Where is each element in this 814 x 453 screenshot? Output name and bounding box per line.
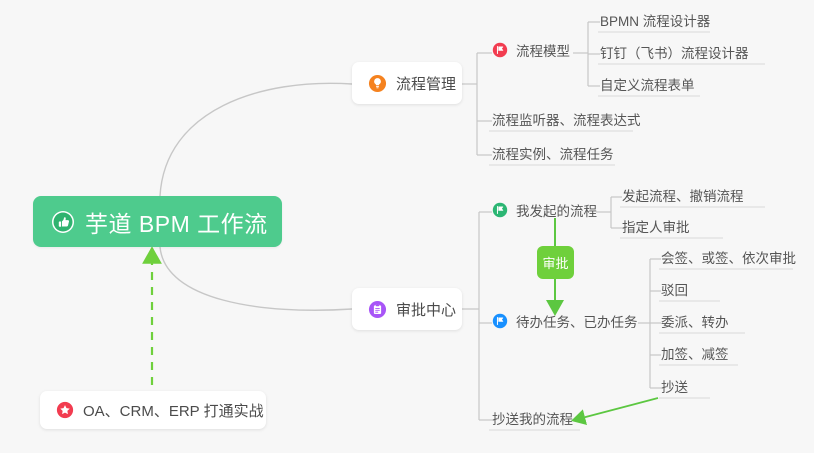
node-carbon-copy[interactable]: 抄送 [661,376,688,401]
node-label: 抄送我的流程 [492,408,573,428]
flag-icon [492,313,508,329]
node-dingtalk-feishu-designer[interactable]: 钉钉（飞书）流程设计器 [600,42,749,67]
node-assigned-approver[interactable]: 指定人审批 [622,216,690,241]
node-label: 流程监听器、流程表达式 [492,109,641,129]
flag-icon [492,42,508,58]
node-my-initiated-processes[interactable]: 我发起的流程 [492,200,597,225]
approval-flow-tag[interactable]: 审批 [537,246,574,279]
node-reject[interactable]: 驳回 [661,279,688,304]
node-label: 驳回 [661,279,688,299]
node-custom-process-form[interactable]: 自定义流程表单 [600,74,695,99]
star-icon [56,401,74,419]
node-countersign-orsign-sequential[interactable]: 会签、或签、依次审批 [661,247,796,272]
branch-node-process-management[interactable]: 流程管理 [352,62,462,104]
root-label: 芋道 BPM 工作流 [85,205,268,239]
branch-node-approval-center[interactable]: 审批中心 [352,288,462,330]
lightbulb-icon [368,74,387,93]
approval-flow-tag-label: 审批 [542,253,568,272]
root-node[interactable]: 芋道 BPM 工作流 [33,196,282,247]
node-process-model[interactable]: 流程模型 [492,40,570,65]
node-label: 发起流程、撤销流程 [622,185,744,205]
node-bpmn-designer[interactable]: BPMN 流程设计器 [600,10,710,35]
node-label: 指定人审批 [622,216,690,236]
node-add-remove-sign[interactable]: 加签、减签 [661,343,729,368]
node-cc-to-me-processes[interactable]: 抄送我的流程 [492,408,573,433]
node-delegate-transfer[interactable]: 委派、转办 [661,311,729,336]
node-todo-done-tasks[interactable]: 待办任务、已办任务 [492,311,638,336]
node-process-instance-task[interactable]: 流程实例、流程任务 [492,143,614,168]
node-label: 委派、转办 [661,311,729,331]
bottom-highlight-card[interactable]: OA、CRM、ERP 打通实战 [40,391,266,429]
mindmap-canvas: 芋道 BPM 工作流 流程管理 流程模型 BPMN 流程设计器 钉钉（飞书）流程 [0,0,814,453]
node-label: 流程实例、流程任务 [492,143,614,163]
branch-label: 审批中心 [396,299,456,320]
node-label: 自定义流程表单 [600,74,695,94]
node-label: 会签、或签、依次审批 [661,247,796,267]
node-label: BPMN 流程设计器 [600,10,710,30]
node-start-cancel-process[interactable]: 发起流程、撤销流程 [622,185,744,210]
bottom-highlight-card-label: OA、CRM、ERP 打通实战 [83,400,264,421]
clipboard-icon [368,300,387,319]
node-label: 抄送 [661,376,688,396]
thumbs-up-icon [51,210,75,234]
node-label: 我发起的流程 [516,200,597,220]
flag-icon [492,202,508,218]
node-process-listener-expression[interactable]: 流程监听器、流程表达式 [492,109,641,134]
branch-label: 流程管理 [396,73,456,94]
node-label: 流程模型 [516,40,570,60]
node-label: 钉钉（飞书）流程设计器 [600,42,749,62]
node-label: 待办任务、已办任务 [516,311,638,331]
node-label: 加签、减签 [661,343,729,363]
